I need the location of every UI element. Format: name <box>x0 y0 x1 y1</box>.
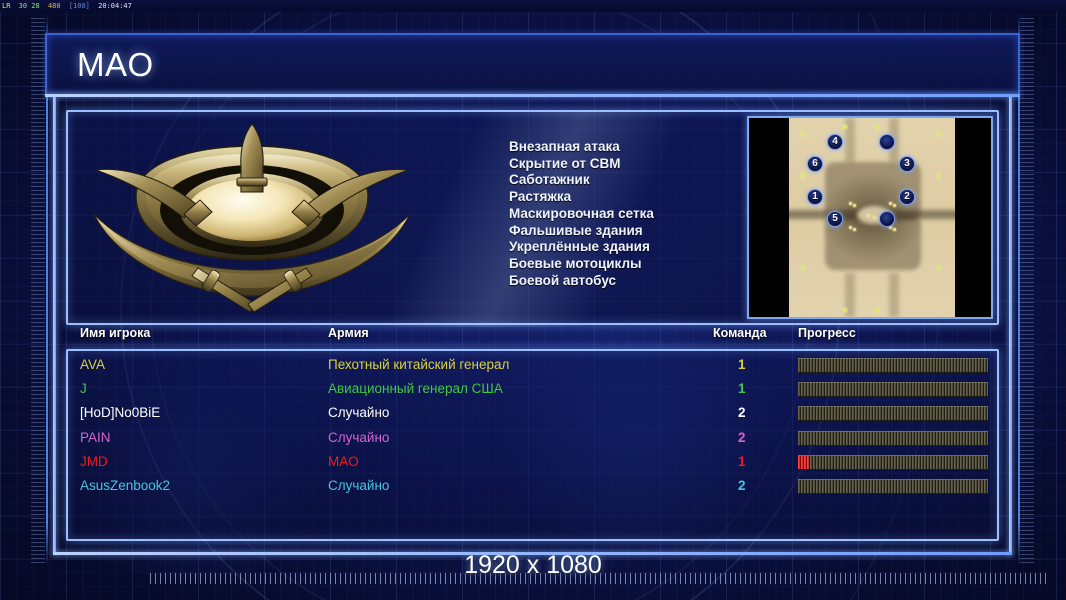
column-header-team: Команда <box>713 326 767 340</box>
frame-line-left <box>53 97 56 555</box>
player-progress-fill <box>798 456 809 469</box>
frame-line-right <box>1009 97 1012 555</box>
player-team: 1 <box>738 357 746 372</box>
table-row: AVAПехотный китайский генерал1 <box>80 355 990 379</box>
dialog-title-bar: MAO <box>45 33 1020 94</box>
player-name: J <box>80 381 87 396</box>
start-position-marker[interactable]: 1 <box>807 189 823 205</box>
ability-item: Фальшивые здания <box>509 223 759 240</box>
table-row: [HoD]No0BiEСлучайно2 <box>80 403 990 427</box>
table-row: JMDMAO1 <box>80 452 990 476</box>
player-progress-bar <box>798 479 988 494</box>
player-progress-bar <box>798 455 988 470</box>
session-time: 20:04:47 <box>96 2 134 10</box>
start-position-marker[interactable] <box>879 134 895 150</box>
loading-screen: LR 30 28 480 [100] 20:04:47 00:00:00 MAO <box>0 0 1066 600</box>
faction-info-panel: Внезапная атака Скрытие от СВМ Саботажни… <box>66 110 999 325</box>
player-progress-bar <box>798 382 988 397</box>
resolution-label: 1920 x 1080 <box>0 551 1066 580</box>
table-row: JАвиационный генерал США1 <box>80 379 990 403</box>
player-name: JMD <box>80 454 108 469</box>
fps-status-bar: LR 30 28 480 [100] 20:04:47 <box>0 0 1066 12</box>
table-row: PAINСлучайно2 <box>80 428 990 452</box>
start-position-marker[interactable]: 5 <box>827 211 843 227</box>
ability-item: Внезапная атака <box>509 139 759 156</box>
frame-line-top <box>45 94 1020 97</box>
ability-item: Скрытие от СВМ <box>509 156 759 173</box>
player-team: 2 <box>738 405 746 420</box>
table-row: AsusZenbook2Случайно2 <box>80 476 990 500</box>
left-tick-ruler <box>31 18 45 563</box>
player-name: AVA <box>80 357 105 372</box>
faction-emblem <box>80 118 425 318</box>
column-header-army: Армия <box>328 326 369 340</box>
player-name: PAIN <box>80 430 111 445</box>
ability-item: Саботажник <box>509 172 759 189</box>
player-progress-bar <box>798 431 988 446</box>
player-army: MAO <box>328 454 359 469</box>
player-army: Пехотный китайский генерал <box>328 357 509 372</box>
page-title: MAO <box>77 46 154 84</box>
player-progress-bar <box>798 358 988 373</box>
start-position-marker[interactable]: 4 <box>827 134 843 150</box>
start-position-marker[interactable] <box>879 211 895 227</box>
minimap-frame[interactable]: 463125 <box>747 116 993 319</box>
player-team: 1 <box>738 454 746 469</box>
fps-bracket: [100] <box>67 2 92 10</box>
start-position-marker[interactable]: 3 <box>899 156 915 172</box>
player-list-panel: Имя игрока Армия Команда Прогресс AVAПех… <box>66 349 999 541</box>
fps-extra: 480 <box>46 2 63 10</box>
player-army: Случайно <box>328 478 389 493</box>
player-army: Авиационный генерал США <box>328 381 503 396</box>
ability-item: Укреплённые здания <box>509 239 759 256</box>
ability-item: Боевые мотоциклы <box>509 256 759 273</box>
player-army: Случайно <box>328 405 389 420</box>
map-info-dialog: MAO <box>45 33 1020 563</box>
player-name: AsusZenbook2 <box>80 478 170 493</box>
player-army: Случайно <box>328 430 389 445</box>
player-progress-bar <box>798 406 988 421</box>
player-team: 2 <box>738 430 746 445</box>
player-team: 2 <box>738 478 746 493</box>
start-position-marker[interactable]: 2 <box>899 189 915 205</box>
faction-abilities-list: Внезапная атака Скрытие от СВМ Саботажни… <box>509 139 759 289</box>
column-header-name: Имя игрока <box>80 326 150 340</box>
minimap-image: 463125 <box>789 118 955 317</box>
player-name: [HoD]No0BiE <box>80 405 160 420</box>
column-header-progress: Прогресс <box>798 326 856 340</box>
start-position-marker[interactable]: 6 <box>807 156 823 172</box>
table-header-row: Имя игрока Армия Команда Прогресс <box>80 326 990 348</box>
right-tick-ruler <box>1020 18 1034 563</box>
gla-emblem-icon <box>80 118 425 318</box>
ability-item: Маскировочная сетка <box>509 206 759 223</box>
player-team: 1 <box>738 381 746 396</box>
fps-values: 30 28 <box>17 2 42 10</box>
fps-label: LR <box>0 2 12 10</box>
ability-item: Растяжка <box>509 189 759 206</box>
ability-item: Боевой автобус <box>509 273 759 290</box>
